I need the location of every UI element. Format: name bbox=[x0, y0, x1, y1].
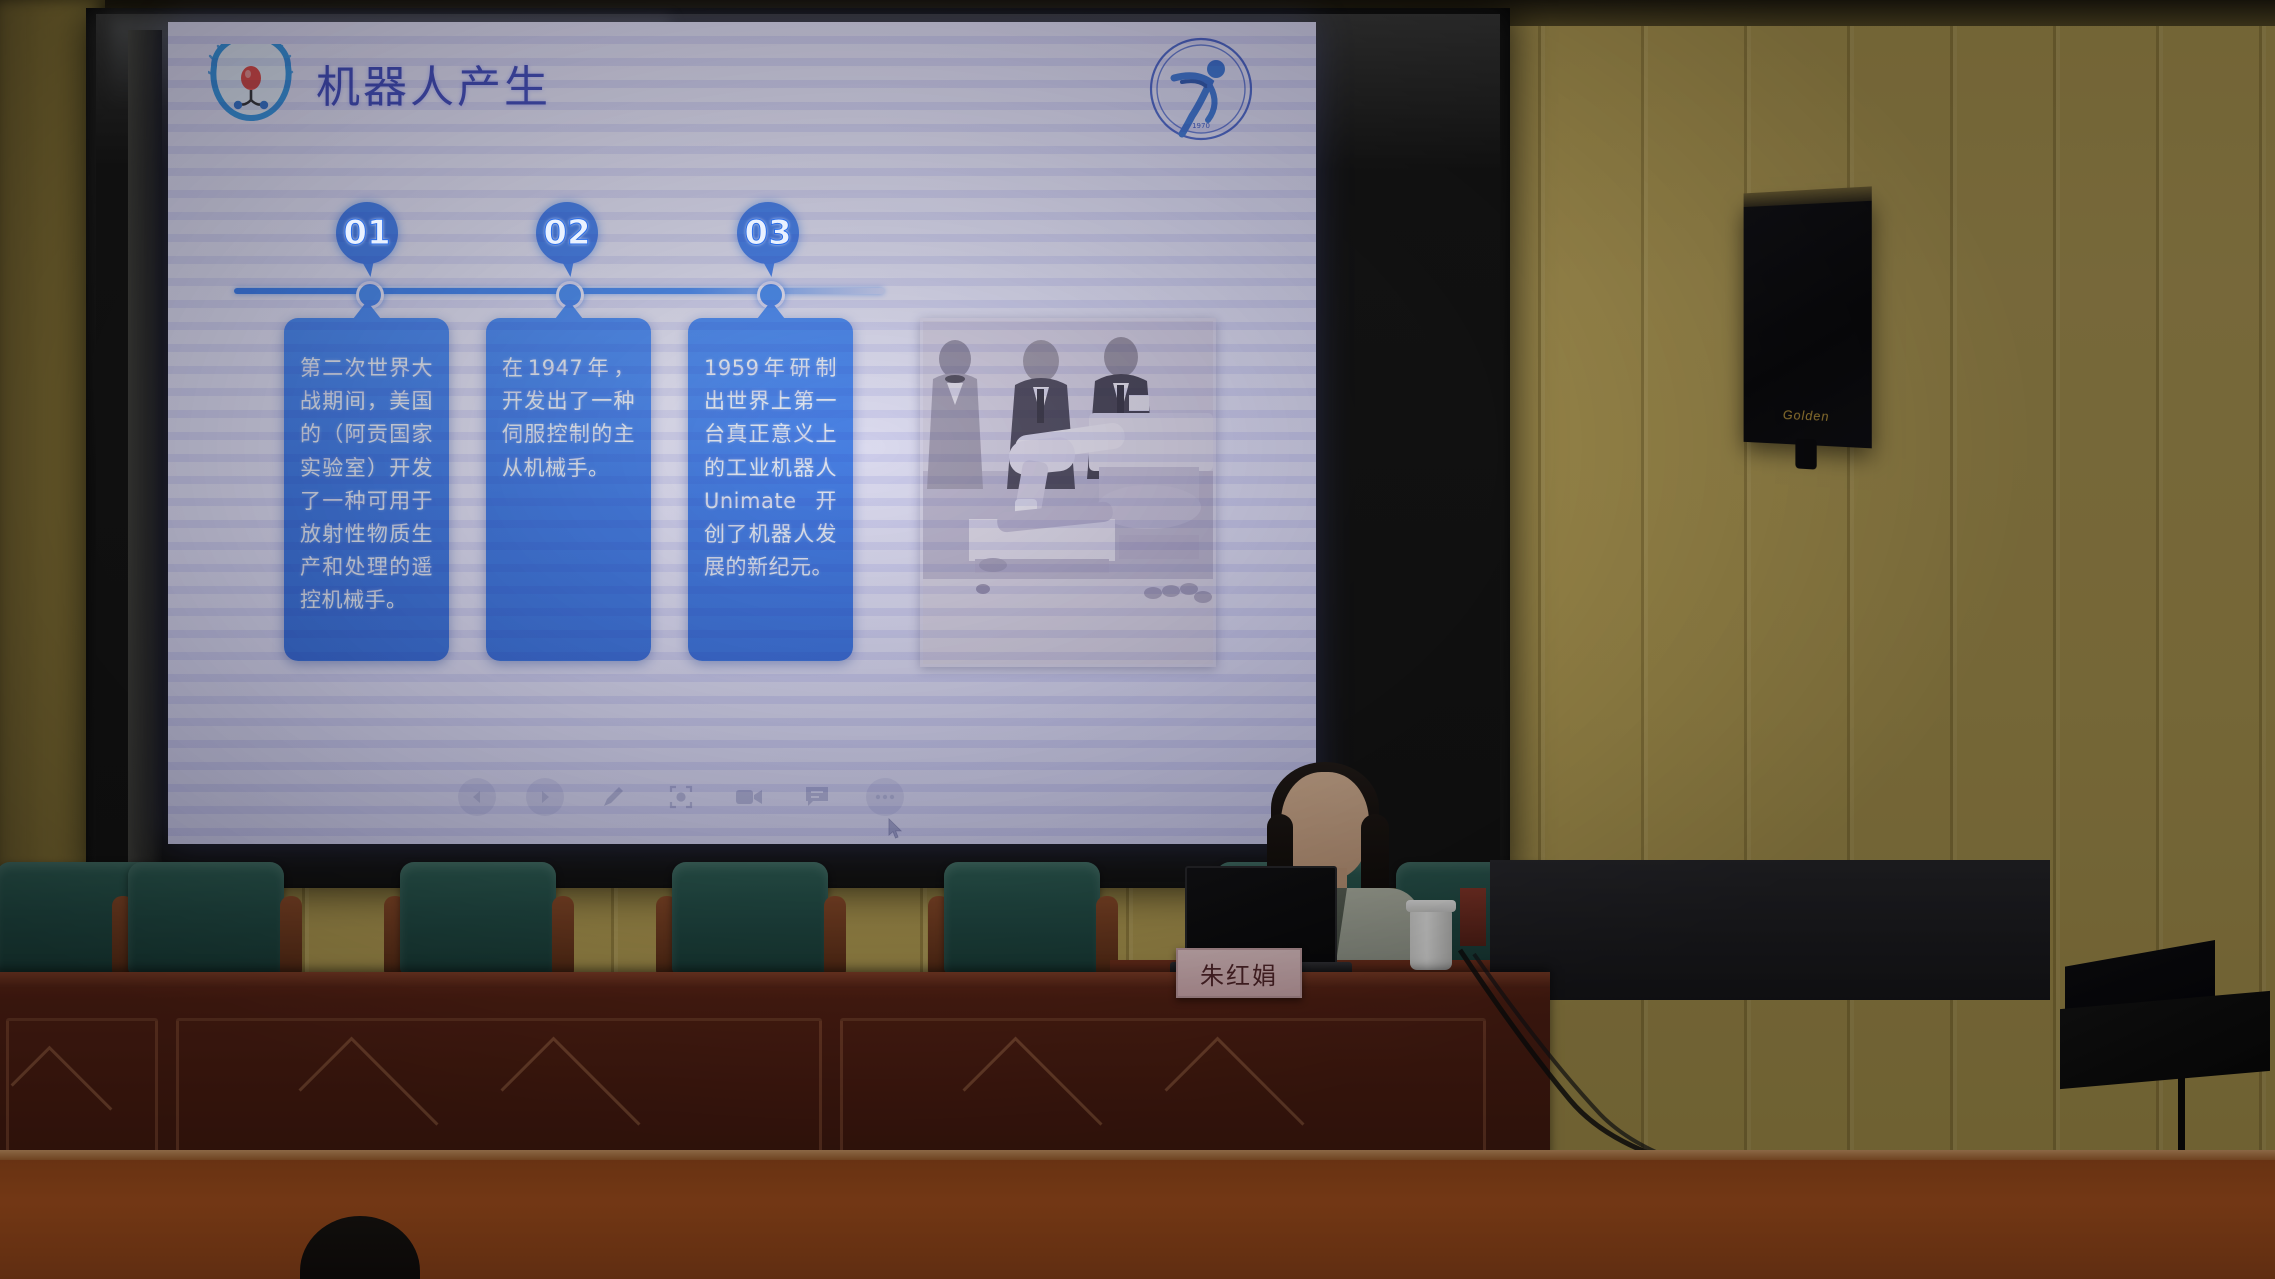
badge-label: 03 bbox=[744, 213, 791, 253]
room-lighting-vignette bbox=[0, 0, 2275, 1279]
badge-label: 02 bbox=[543, 213, 590, 253]
badge-label: 01 bbox=[343, 213, 390, 253]
lecture-hall-scene: 机器人产生 1970 01 02 03 bbox=[0, 0, 2275, 1279]
